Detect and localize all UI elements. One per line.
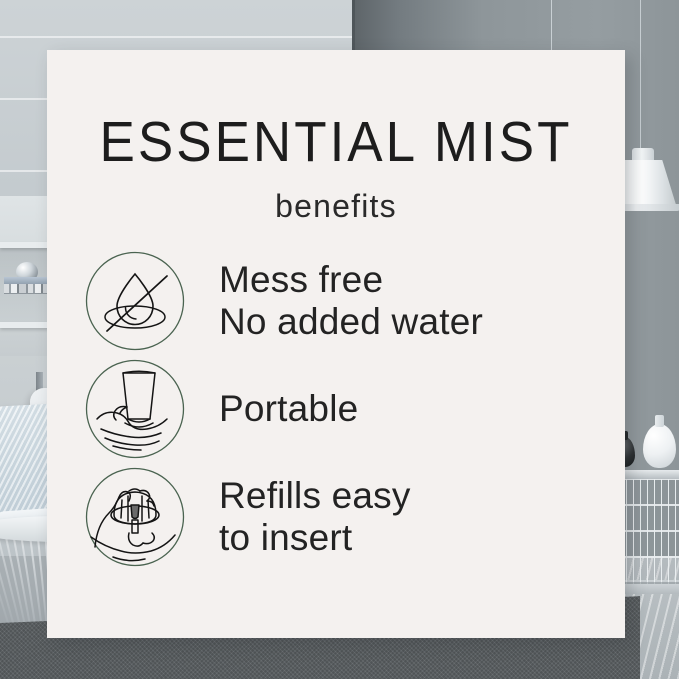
product-infographic-scene: ESSENTIAL MIST benefits: [0, 0, 679, 679]
no-water-droplet-icon: [83, 249, 187, 353]
list-item: Refills easy to insert: [47, 462, 625, 572]
list-item-label: Mess free No added water: [219, 259, 483, 343]
page-subtitle: benefits: [47, 188, 625, 225]
list-item-label: Portable: [219, 388, 358, 430]
benefits-list: Mess free No added water: [47, 246, 625, 572]
hand-holding-device-icon: [83, 357, 187, 461]
list-item: Portable: [47, 354, 625, 464]
white-vase: [643, 424, 676, 468]
lamp-cord: [640, 0, 641, 148]
lamp-top: [632, 148, 654, 162]
benefits-card: ESSENTIAL MIST benefits: [47, 50, 625, 638]
insert-refill-icon: [83, 465, 187, 569]
list-item: Mess free No added water: [47, 246, 625, 356]
list-item-label: Refills easy to insert: [219, 475, 411, 559]
page-title: ESSENTIAL MIST: [47, 110, 625, 175]
wall-seam: [0, 36, 352, 38]
